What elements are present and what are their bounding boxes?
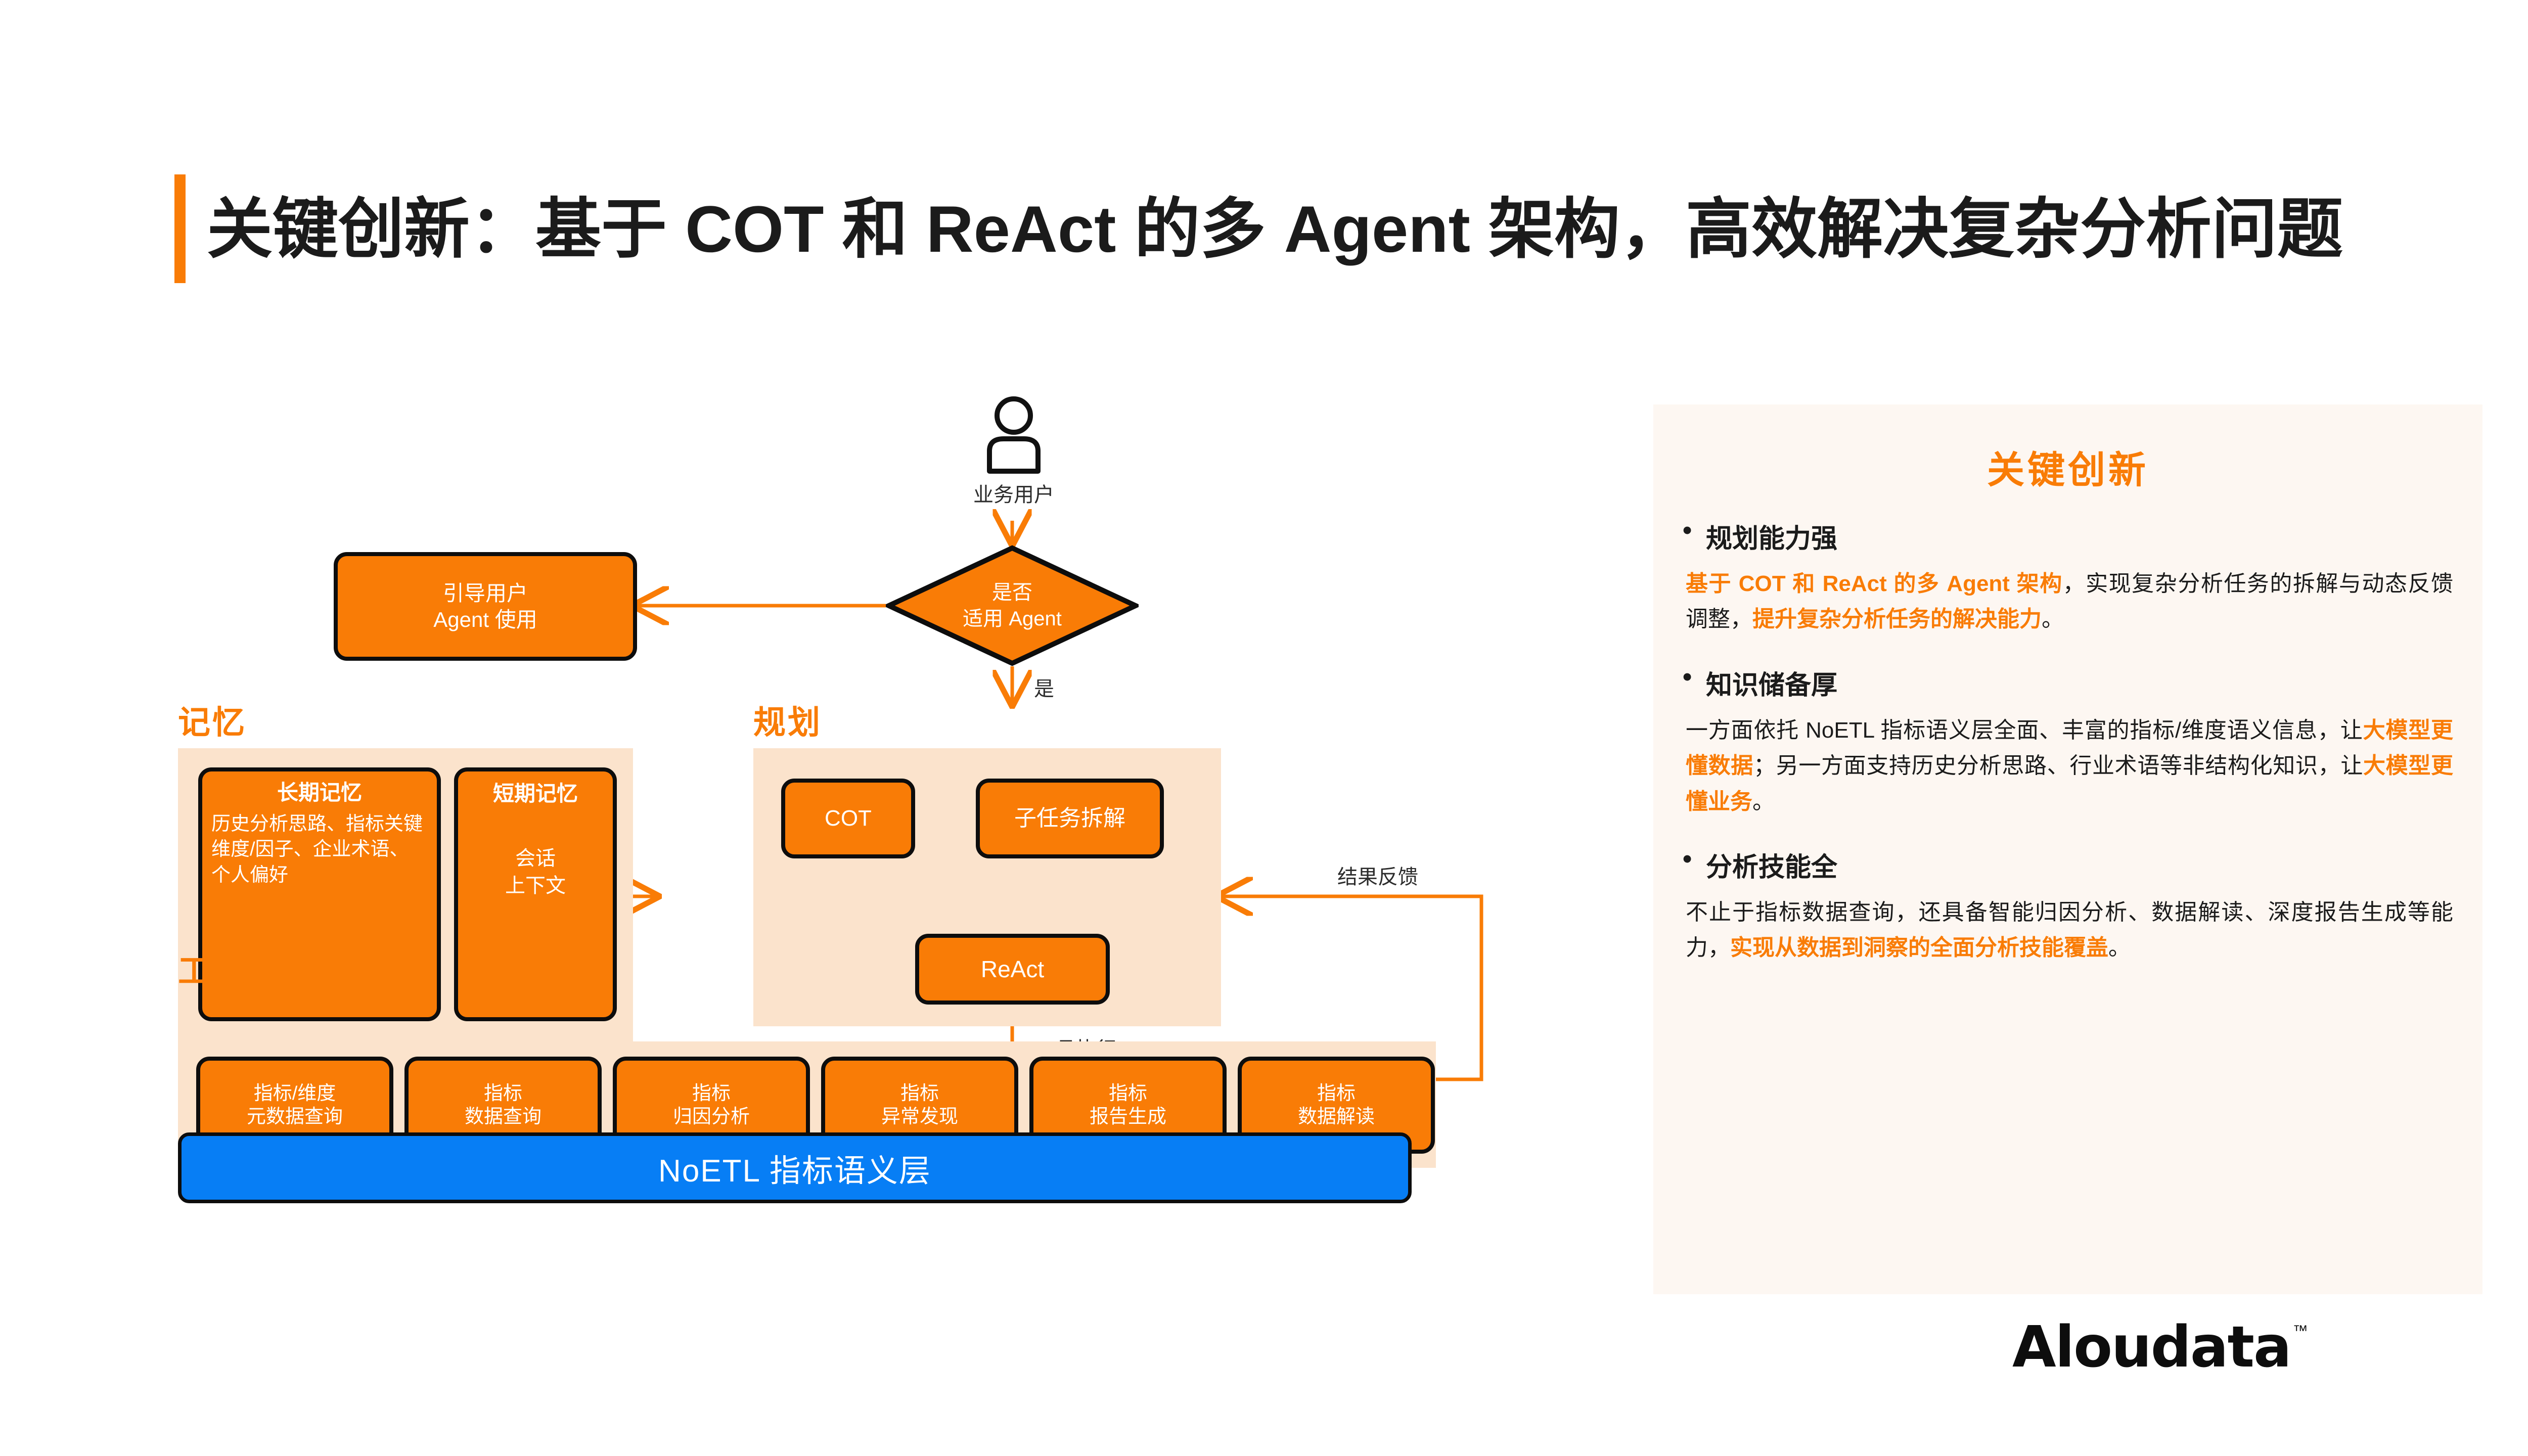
tool-card-6-line-2: 数据解读: [1298, 1105, 1375, 1128]
logo-wordmark: Aloudata: [2012, 1314, 2291, 1380]
actor-label: 业务用户: [973, 478, 1054, 508]
title-accent-bar: [174, 174, 186, 283]
foundation-noetl-bar[interactable]: NoETL 指标语义层: [178, 1132, 1412, 1203]
tool-card-3-line-1: 指标: [692, 1082, 731, 1105]
bullet-item-1: • 规划能力强 基于 COT 和 ReAct 的多 Agent 架构，实现复杂分…: [1683, 517, 2453, 638]
body-text: 。: [1752, 789, 1775, 814]
guide-user-line-1: 引导用户: [443, 580, 528, 606]
tool-card-1-line-1: 指标/维度: [254, 1082, 336, 1105]
actor-business-user: 业务用户: [951, 394, 1077, 508]
cot-label: COT: [825, 805, 872, 832]
tool-card-2-line-1: 指标: [484, 1082, 522, 1105]
tool-card-6-line-1: 指标: [1317, 1082, 1356, 1105]
react-label: ReAct: [981, 955, 1044, 983]
logo-trademark: ™: [2293, 1323, 2308, 1340]
tool-card-3-line-2: 归因分析: [673, 1105, 750, 1128]
bullet-1-heading-row: • 规划能力强: [1683, 517, 2453, 555]
bullet-marker-icon: •: [1683, 664, 1706, 690]
highlighted-text: 基于 COT 和 ReAct 的多 Agent 架构: [1686, 571, 2063, 596]
bullet-1-heading: 规划能力强: [1706, 517, 1837, 555]
body-text: 一方面依托 NoETL 指标语义层全面、丰富的指标/维度语义信息，让: [1686, 718, 2363, 743]
decision-line-2: 适用 Agent: [963, 606, 1062, 632]
bullet-2-heading: 知识储备厚: [1706, 664, 1837, 702]
user-icon: [981, 394, 1047, 475]
tool-card-5-line-1: 指标: [1109, 1082, 1147, 1105]
tool-card-4-line-1: 指标: [900, 1082, 939, 1105]
card-short-term-memory[interactable]: 短期记忆 会话 上下文: [454, 767, 617, 1021]
bullet-2-heading-row: • 知识储备厚: [1683, 664, 2453, 702]
bullet-3-heading: 分析技能全: [1706, 846, 1837, 884]
slide-root: 关键创新：基于 COT 和 ReAct 的多 Agent 架构，高效解决复杂分析…: [0, 0, 2528, 1456]
bullet-item-3: • 分析技能全 不止于指标数据查询，还具备智能归因分析、数据解读、深度报告生成等…: [1683, 846, 2453, 966]
decision-node[interactable]: 是否 适用 Agent: [886, 545, 1139, 666]
foundation-label: NoETL 指标语义层: [658, 1145, 931, 1191]
edge-label-result-feedback: 结果反馈: [1337, 860, 1418, 890]
body-text: 。: [2108, 935, 2131, 960]
node-subtask-decomposition[interactable]: 子任务拆解: [976, 779, 1164, 858]
panel-title: 关键创新: [1683, 440, 2453, 494]
long-term-memory-body: 历史分析思路、指标关键维度/因子、企业术语、个人偏好: [211, 811, 428, 887]
subtask-label: 子任务拆解: [1014, 805, 1125, 832]
aloudata-logo: Aloudata ™: [2012, 1314, 2308, 1380]
tool-card-4-line-2: 异常发现: [881, 1105, 958, 1128]
long-term-memory-title: 长期记忆: [211, 780, 428, 805]
decision-text: 是否 适用 Agent: [886, 545, 1139, 666]
section-label-planning: 规划: [753, 697, 822, 743]
bullet-3-body: 不止于指标数据查询，还具备智能归因分析、数据解读、深度报告生成等能力，实现从数据…: [1686, 895, 2453, 966]
bullet-marker-icon: •: [1683, 846, 1706, 872]
page-title: 关键创新：基于 COT 和 ReAct 的多 Agent 架构，高效解决复杂分析…: [174, 174, 2343, 283]
node-react[interactable]: ReAct: [915, 934, 1110, 1005]
node-guide-user[interactable]: 引导用户 Agent 使用: [334, 552, 637, 661]
bullet-item-2: • 知识储备厚 一方面依托 NoETL 指标语义层全面、丰富的指标/维度语义信息…: [1683, 664, 2453, 820]
highlighted-text: 提升复杂分析任务的解决能力: [1752, 607, 2042, 631]
bullet-1-body: 基于 COT 和 ReAct 的多 Agent 架构，实现复杂分析任务的拆解与动…: [1686, 566, 2453, 638]
edge-label-yes: 是: [1034, 672, 1054, 702]
short-term-memory-title: 短期记忆: [493, 781, 578, 806]
node-cot[interactable]: COT: [781, 779, 915, 858]
bullet-3-heading-row: • 分析技能全: [1683, 846, 2453, 884]
bullet-2-body: 一方面依托 NoETL 指标语义层全面、丰富的指标/维度语义信息，让大模型更懂数…: [1686, 713, 2453, 820]
section-label-memory: 记忆: [178, 697, 247, 743]
tool-card-1-line-2: 元数据查询: [247, 1105, 343, 1128]
section-label-tools: 工具: [178, 945, 247, 992]
guide-user-line-2: Agent 使用: [433, 607, 537, 632]
key-innovation-panel: 关键创新 • 规划能力强 基于 COT 和 ReAct 的多 Agent 架构，…: [1653, 404, 2482, 1294]
body-text: 。: [2042, 607, 2064, 631]
architecture-diagram: 业务用户 是否 适用 Agent 引导用户 Agent 使用 记忆 长期记忆 历…: [0, 374, 1618, 1299]
tool-card-2-line-2: 数据查询: [465, 1105, 541, 1128]
tool-card-5-line-2: 报告生成: [1090, 1105, 1166, 1128]
body-text: ；另一方面支持历史分析思路、行业术语等非结构化知识，让: [1753, 753, 2363, 778]
highlighted-text: 实现从数据到洞察的全面分析技能覆盖: [1730, 935, 2108, 960]
short-term-memory-body: 会话 上下文: [505, 845, 566, 899]
title-text: 关键创新：基于 COT 和 ReAct 的多 Agent 架构，高效解决复杂分析…: [207, 196, 2343, 262]
bullet-marker-icon: •: [1683, 517, 1706, 543]
decision-line-1: 是否: [992, 579, 1032, 606]
